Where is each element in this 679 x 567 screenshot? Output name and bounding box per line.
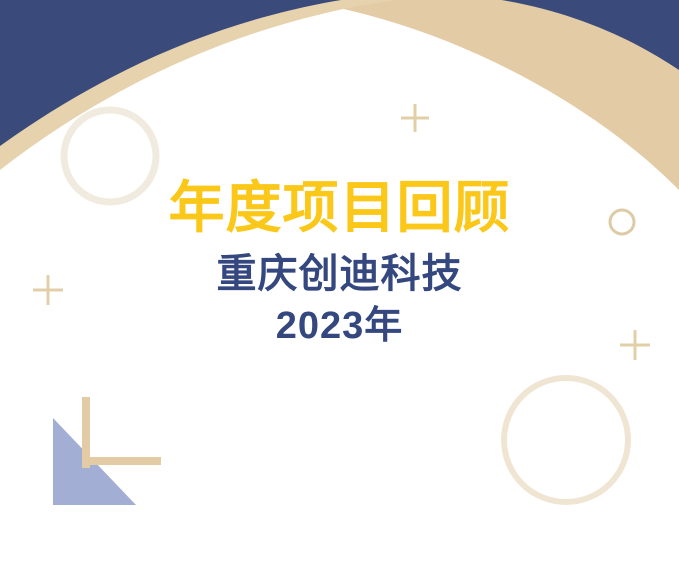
presentation-slide: 年度项目回顾 重庆创迪科技 2023年 [0, 0, 679, 567]
title-block: 年度项目回顾 重庆创迪科技 2023年 [0, 178, 679, 348]
year-label: 2023年 [0, 306, 679, 348]
company-name: 重庆创迪科技 [0, 252, 679, 296]
page-title: 年度项目回顾 [0, 178, 679, 238]
